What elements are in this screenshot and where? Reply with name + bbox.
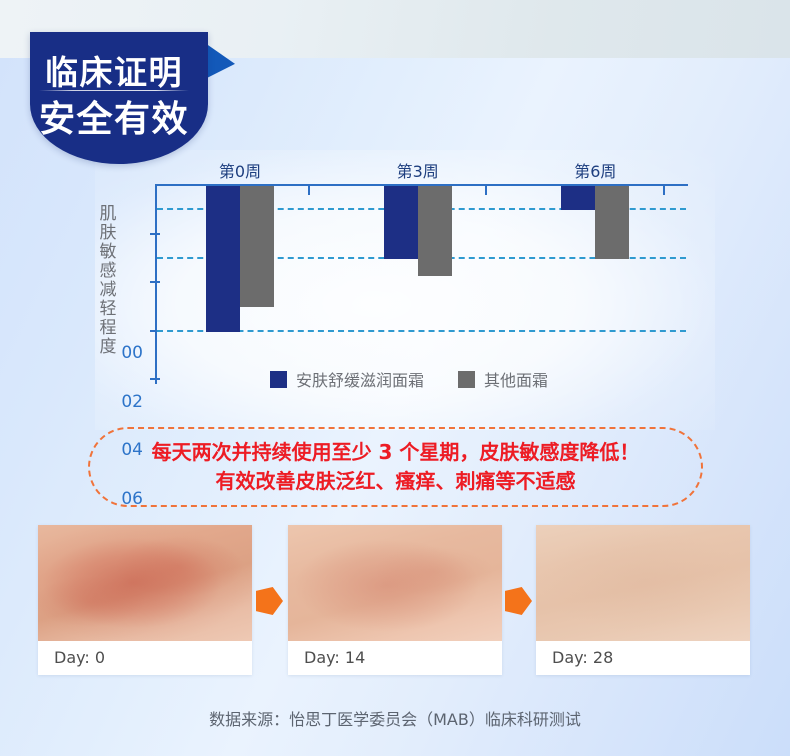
bar-第6周-其他面霜 bbox=[595, 186, 629, 259]
arrow-right-icon-1 bbox=[256, 587, 283, 615]
photo-card-day-14: Day: 14 bbox=[288, 525, 502, 675]
photo-card-day-28: Day: 28 bbox=[536, 525, 750, 675]
callout-line-1: 每天两次并持续使用至少 3 个星期，皮肤敏感度降低！ bbox=[152, 441, 640, 464]
bar-第6周-安肤舒缓滋润面霜 bbox=[561, 186, 595, 210]
x-category-label: 第3周 bbox=[358, 158, 478, 182]
skin-photo-day-0 bbox=[38, 525, 252, 641]
badge-line-1: 临床证明 bbox=[25, 56, 203, 89]
legend-item-1: 其他面霜 bbox=[458, 367, 548, 391]
y-tick-label: 00 bbox=[103, 345, 143, 362]
photo-card-day-0: Day: 0 bbox=[38, 525, 252, 675]
badge-line-2: 安全有效 bbox=[25, 102, 203, 138]
legend-swatch-icon-series-0 bbox=[270, 371, 287, 388]
x-category-label: 第6周 bbox=[535, 158, 655, 182]
y-tick-mark bbox=[150, 233, 160, 235]
y-tick-mark bbox=[150, 378, 160, 380]
benefit-callout: 每天两次并持续使用至少 3 个星期，皮肤敏感度降低！ 有效改善皮肤泛红、瘙痒、刺… bbox=[88, 427, 703, 507]
chart-legend: 安肤舒缓滋润面霜 其他面霜 bbox=[270, 368, 600, 390]
before-after-photo-strip: Day: 0 Day: 14 Day: 28 bbox=[0, 525, 790, 677]
y-tick-label: 02 bbox=[103, 394, 143, 411]
legend-label-series-0: 安肤舒缓滋润面霜 bbox=[296, 367, 424, 391]
skin-photo-day-28 bbox=[536, 525, 750, 641]
bar-第0周-安肤舒缓滋润面霜 bbox=[206, 186, 240, 332]
badge-body bbox=[30, 32, 208, 164]
bar-第0周-其他面霜 bbox=[240, 186, 274, 307]
x-tick-mark bbox=[485, 186, 487, 195]
y-axis-tick-labels: 0002040608 bbox=[98, 170, 143, 390]
data-source-footer: 数据来源：怡思丁医学委员会（MAB）临床科研测试 bbox=[0, 706, 790, 730]
bar-第3周-安肤舒缓滋润面霜 bbox=[384, 186, 418, 259]
legend-swatch-icon-series-1 bbox=[458, 371, 475, 388]
x-tick-mark bbox=[663, 186, 665, 195]
photo-caption-day-14: Day: 14 bbox=[288, 641, 502, 675]
photo-caption-day-28: Day: 28 bbox=[536, 641, 750, 675]
photo-caption-day-0: Day: 0 bbox=[38, 641, 252, 675]
x-tick-mark bbox=[308, 186, 310, 195]
x-category-label: 第0周 bbox=[180, 158, 300, 182]
legend-item-0: 安肤舒缓滋润面霜 bbox=[270, 367, 424, 391]
y-tick-mark bbox=[150, 281, 160, 283]
legend-label-series-1: 其他面霜 bbox=[484, 367, 548, 391]
callout-line-2: 有效改善皮肤泛红、瘙痒、刺痛等不适感 bbox=[216, 470, 576, 493]
arrow-right-icon-2 bbox=[505, 587, 532, 615]
skin-photo-day-14 bbox=[288, 525, 502, 641]
bar-第3周-其他面霜 bbox=[418, 186, 452, 276]
